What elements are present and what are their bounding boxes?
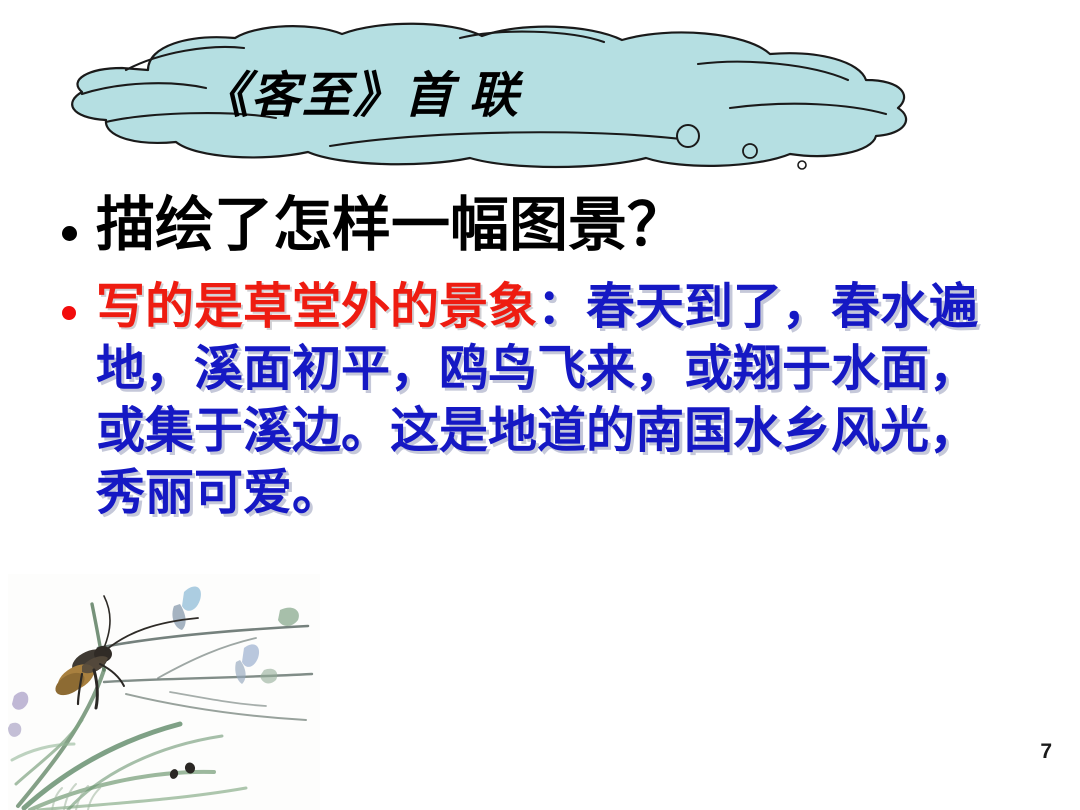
answer-paragraph: 写的是草堂外的景象：春天到了，春水遍地，溪面初平，鸥鸟飞来，或翔于水面，或集于溪… [96, 276, 986, 524]
bullet-dot-red-icon [62, 276, 96, 324]
question-bullet-row: 描绘了怎样一幅图景？ [62, 192, 1012, 258]
page-number: 7 [1040, 740, 1052, 764]
slide-title: 《客至》首 联 [30, 70, 690, 121]
answer-highlight: 写的是草堂外的景象 [96, 278, 537, 335]
orchid-cricket-painting [8, 574, 320, 810]
answer-bullet-row: 写的是草堂外的景象：春天到了，春水遍地，溪面初平，鸥鸟飞来，或翔于水面，或集于溪… [62, 276, 1012, 524]
thought-bubble-large [677, 125, 699, 147]
bullet-dot-black-icon [62, 192, 96, 245]
thought-bubble-small [798, 161, 806, 169]
question-text: 描绘了怎样一幅图景？ [96, 192, 686, 258]
painting-svg [8, 574, 320, 810]
slide-canvas: 《客至》首 联 描绘了怎样一幅图景？ 写的是草堂外的景象：春天到了，春水遍地，溪… [0, 0, 1080, 810]
thought-bubble-medium [743, 144, 757, 158]
content-block: 描绘了怎样一幅图景？ 写的是草堂外的景象：春天到了，春水遍地，溪面初平，鸥鸟飞来… [62, 192, 1012, 524]
title-cloud-group: 《客至》首 联 [30, 18, 930, 183]
